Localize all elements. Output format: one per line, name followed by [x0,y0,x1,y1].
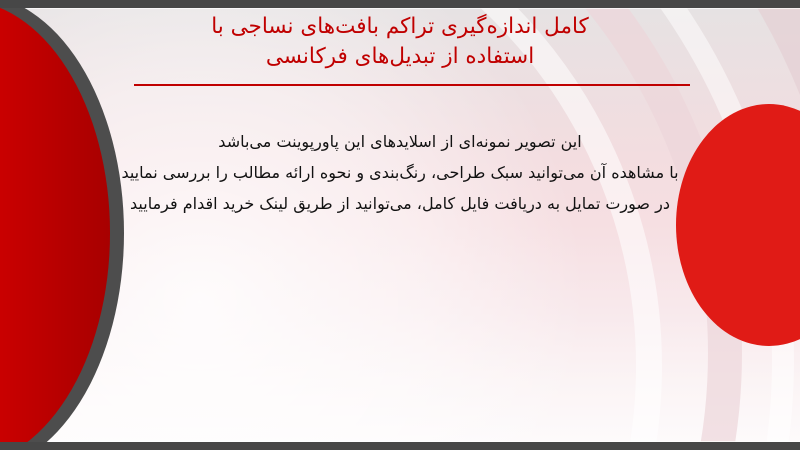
slide-title-line-1: کامل اندازه‌گیری تراکم بافت‌های نساجی با [28,12,772,42]
body-line-3: در صورت تمایل به دریافت فایل کامل، می‌تو… [40,188,760,219]
slide-title-line-2: استفاده از تبدیل‌های فرکانسی [28,42,772,72]
title-underline-rule [134,84,690,86]
canvas-bottom-highlight [0,441,800,442]
slide-canvas: کامل اندازه‌گیری تراکم بافت‌های نساجی با… [0,8,800,442]
presentation-slide: کامل اندازه‌گیری تراکم بافت‌های نساجی با… [0,0,800,450]
body-line-1: این تصویر نمونه‌ای از اسلایدهای این پاور… [40,126,760,157]
body-line-2: با مشاهده آن می‌توانید سبک طراحی، رنگ‌بن… [40,157,760,188]
slide-body-text: این تصویر نمونه‌ای از اسلایدهای این پاور… [0,126,800,219]
canvas-top-highlight [0,8,800,9]
slide-title: کامل اندازه‌گیری تراکم بافت‌های نساجی با… [0,12,800,72]
